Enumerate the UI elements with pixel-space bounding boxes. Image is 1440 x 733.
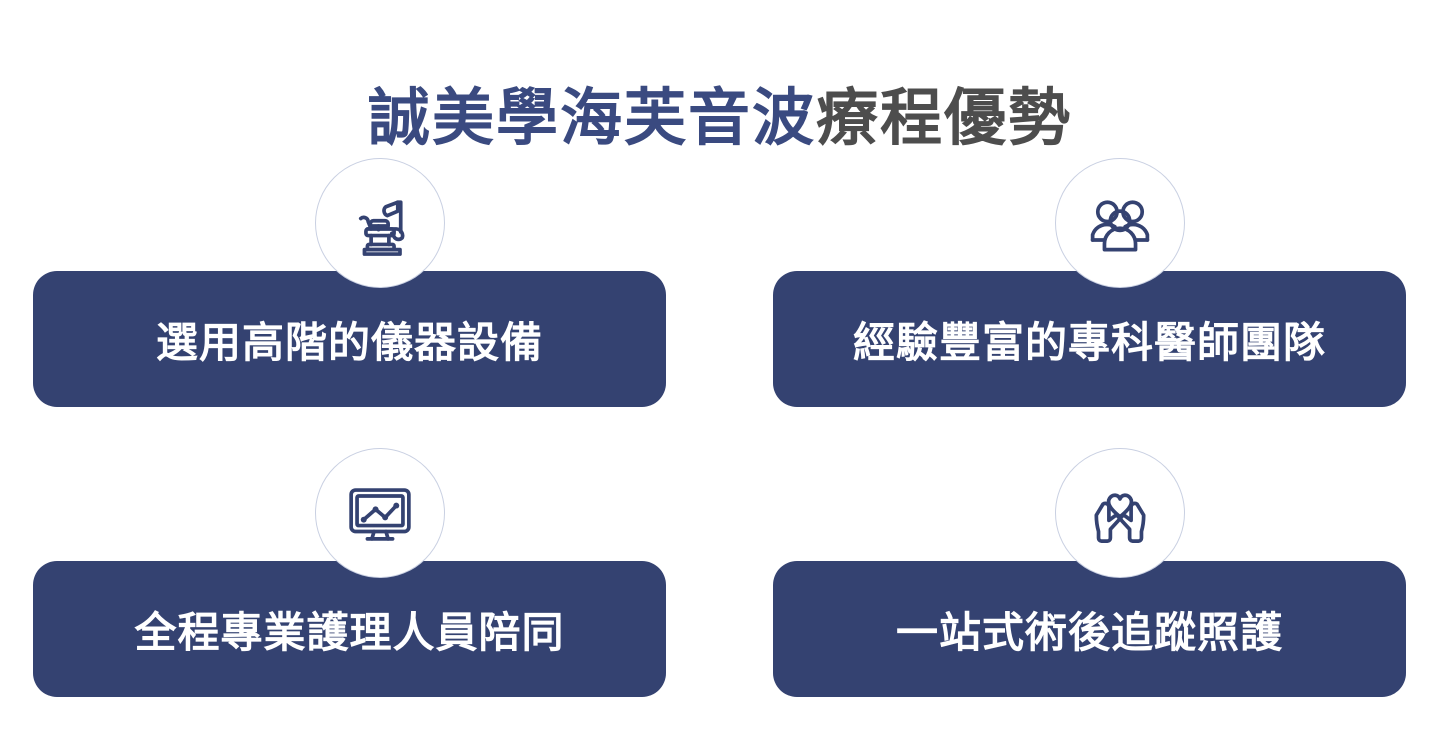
feature-card-3[interactable]: 全程專業護理人員陪同 bbox=[33, 440, 666, 690]
feature-card-2[interactable]: 經驗豐富的專科醫師團隊 bbox=[773, 150, 1406, 400]
page-title: 誠美學海芙音波療程優勢 bbox=[0, 82, 1440, 156]
feature-card-2-body[interactable]: 經驗豐富的專科醫師團隊 bbox=[773, 271, 1406, 407]
feature-card-4-label: 一站式術後追蹤照護 bbox=[896, 610, 1283, 656]
hands-heart-icon bbox=[1055, 448, 1185, 578]
feature-card-1-body[interactable]: 選用高階的儀器設備 bbox=[33, 271, 666, 407]
monitor-chart-icon bbox=[315, 448, 445, 578]
page-title-secondary-segment: 療程優勢 bbox=[816, 84, 1072, 153]
feature-card-2-label: 經驗豐富的專科醫師團隊 bbox=[853, 320, 1326, 366]
feature-card-grid: 選用高階的儀器設備 bbox=[0, 150, 1440, 710]
feature-card-3-label: 全程專業護理人員陪同 bbox=[134, 610, 564, 656]
feature-card-3-body[interactable]: 全程專業護理人員陪同 bbox=[33, 561, 666, 697]
feature-card-1[interactable]: 選用高階的儀器設備 bbox=[33, 150, 666, 400]
page-title-primary-segment: 誠美學海芙音波 bbox=[368, 84, 816, 153]
feature-card-4[interactable]: 一站式術後追蹤照護 bbox=[773, 440, 1406, 690]
treatment-chair-icon bbox=[315, 158, 445, 288]
feature-card-1-label: 選用高階的儀器設備 bbox=[156, 320, 543, 366]
feature-card-4-body[interactable]: 一站式術後追蹤照護 bbox=[773, 561, 1406, 697]
infographic-root: 誠美學海芙音波療程優勢 bbox=[0, 0, 1440, 733]
medical-team-icon bbox=[1055, 158, 1185, 288]
